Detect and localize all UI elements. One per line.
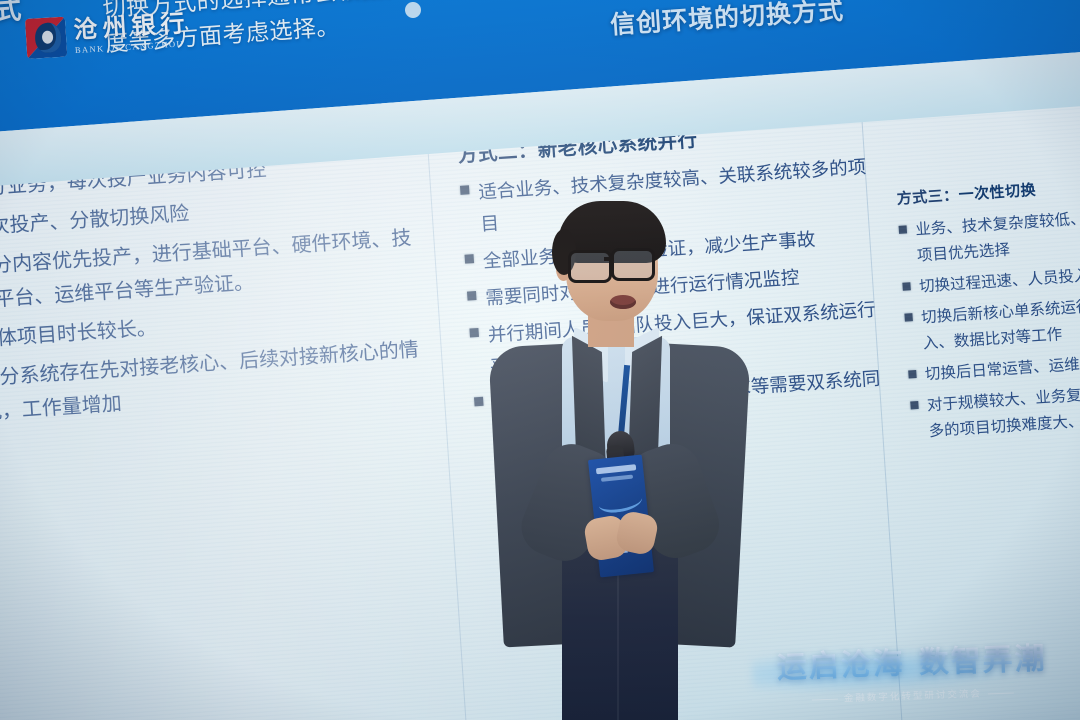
eyeglasses-right-lens [611,248,655,281]
eyeglasses-left-lens [568,250,612,283]
conference-photo: 方式一：新核心分步骤投产 适合业务、技术复杂度较高、关联系统较多的项目 拆分业务… [0,0,1080,720]
square-bullet-icon [460,185,470,195]
square-bullet-icon [910,401,918,409]
square-bullet-icon [904,313,912,321]
watermark-title-left: 运启沧海 [776,646,905,685]
watermark-dash-right [988,692,1014,694]
flag-swoosh-icon [598,489,644,514]
bank-logo-emblem-icon [25,17,67,59]
flag-text-line-2 [601,475,633,482]
square-bullet-icon [902,282,910,290]
event-watermark: 运启沧海数智弄潮 金融数字化转型研讨交流会 [761,633,1063,707]
eyeglasses-bridge [604,257,614,261]
mouth [610,295,636,309]
bank-logo-text: 沧州银行 BANK OF CANGZHOU [73,11,191,55]
corner-text-fragment: 式 [0,0,22,28]
bank-name-cn: 沧州银行 [73,11,190,42]
list-item: 业务、技术复杂度较低、关联系统较少的项目优先选择 [898,199,1080,271]
watermark-title-right: 数智弄潮 [918,641,1047,680]
slide-column-three: 方式三：一次性切换 业务、技术复杂度较低、关联系统较少的项目优先选择 切换过程迅… [896,168,1080,451]
speaker-presenter [470,195,770,720]
watermark-title: 运启沧海数智弄潮 [761,633,1062,687]
square-bullet-icon [899,225,907,233]
watermark-dash-left [812,699,838,701]
column-three-heading-prefix: 方式三： [896,187,959,208]
square-bullet-icon [908,370,916,378]
column-three-heading-text: 一次性切换 [958,182,1036,204]
flag-text-line-1 [596,464,636,474]
